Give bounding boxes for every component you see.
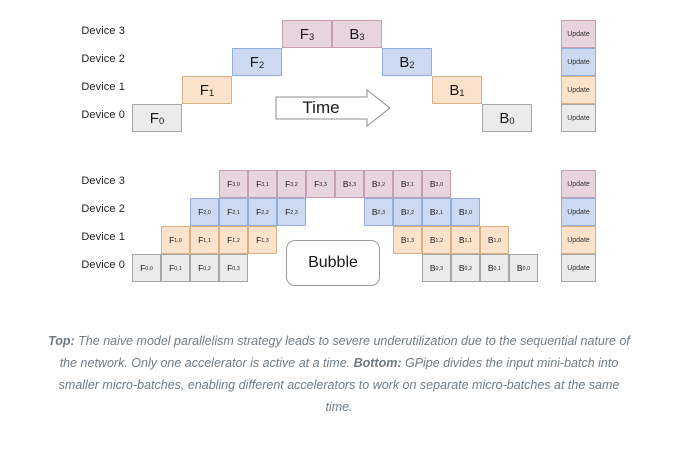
- caption-lead-top: Top:: [48, 334, 75, 348]
- schedule-cell-f-2-2: F2,2: [248, 198, 277, 226]
- schedule-cell-b-3-3: B3,3: [335, 170, 364, 198]
- bubble-box: Bubble: [286, 240, 380, 286]
- schedule-cell-f-0-1: F0,1: [161, 254, 190, 282]
- schedule-cell-b-1-1: B1,1: [451, 226, 480, 254]
- update-cell-device-3: Update: [561, 20, 596, 48]
- bottom-device-label-1: Device 1: [35, 230, 125, 244]
- time-label: Time: [275, 89, 367, 127]
- schedule-cell-b-3: B3: [332, 20, 382, 48]
- schedule-cell-b-0-2: B0,2: [451, 254, 480, 282]
- schedule-cell-b-2-2: B2,2: [393, 198, 422, 226]
- schedule-cell-f-0: F0: [132, 104, 182, 132]
- top-device-label-0: Device 0: [35, 108, 125, 122]
- schedule-cell-b-2-0: B2,0: [451, 198, 480, 226]
- schedule-cell-b-3-1: B3,1: [393, 170, 422, 198]
- schedule-cell-f-2-3: F2,3: [277, 198, 306, 226]
- schedule-cell-f-3-2: F3,2: [277, 170, 306, 198]
- schedule-cell-f-1-3: F1,3: [248, 226, 277, 254]
- update-cell-device-2: Update: [561, 198, 596, 226]
- schedule-cell-f-0-3: F0,3: [219, 254, 248, 282]
- schedule-cell-f-3-0: F3,0: [219, 170, 248, 198]
- schedule-cell-b-2-1: B2,1: [422, 198, 451, 226]
- schedule-cell-b-0-1: B0,1: [480, 254, 509, 282]
- schedule-cell-f-2: F2: [232, 48, 282, 76]
- top-device-label-3: Device 3: [35, 24, 125, 38]
- top-device-label-1: Device 1: [35, 80, 125, 94]
- schedule-cell-f-1: F1: [182, 76, 232, 104]
- top-device-label-2: Device 2: [35, 52, 125, 66]
- schedule-cell-b-0-0: B0,0: [509, 254, 538, 282]
- schedule-cell-f-2-0: F2,0: [190, 198, 219, 226]
- schedule-cell-b-3-0: B3,0: [422, 170, 451, 198]
- schedule-cell-f-0-2: F0,2: [190, 254, 219, 282]
- schedule-cell-b-1: B1: [432, 76, 482, 104]
- schedule-cell-b-2: B2: [382, 48, 432, 76]
- caption-lead-bottom: Bottom:: [354, 356, 402, 370]
- update-cell-device-2: Update: [561, 48, 596, 76]
- schedule-cell-b-3-2: B3,2: [364, 170, 393, 198]
- time-arrow: Time: [275, 89, 391, 127]
- update-cell-device-1: Update: [561, 76, 596, 104]
- schedule-cell-b-1-2: B1,2: [422, 226, 451, 254]
- bottom-device-label-3: Device 3: [35, 174, 125, 188]
- update-cell-device-3: Update: [561, 170, 596, 198]
- schedule-cell-f-1-0: F1,0: [161, 226, 190, 254]
- schedule-cell-f-3-1: F3,1: [248, 170, 277, 198]
- figure-caption: Top: The naive model parallelism strateg…: [44, 330, 634, 418]
- schedule-cell-b-1-0: B1,0: [480, 226, 509, 254]
- bottom-device-label-2: Device 2: [35, 202, 125, 216]
- schedule-cell-b-2-3: B2,3: [364, 198, 393, 226]
- gpipe-pipeline-figure: Device 3 Device 2 Device 1 Device 0 F0F1…: [0, 0, 679, 451]
- schedule-cell-b-1-3: B1,3: [393, 226, 422, 254]
- schedule-cell-f-1-1: F1,1: [190, 226, 219, 254]
- bottom-device-label-0: Device 0: [35, 258, 125, 272]
- update-cell-device-0: Update: [561, 104, 596, 132]
- schedule-cell-f-3: F3: [282, 20, 332, 48]
- update-cell-device-0: Update: [561, 254, 596, 282]
- update-cell-device-1: Update: [561, 226, 596, 254]
- schedule-cell-f-3-3: F3,3: [306, 170, 335, 198]
- bubble-label: Bubble: [308, 254, 358, 272]
- schedule-cell-f-2-1: F2,1: [219, 198, 248, 226]
- schedule-cell-b-0: B0: [482, 104, 532, 132]
- schedule-cell-b-0-3: B0,3: [422, 254, 451, 282]
- schedule-cell-f-1-2: F1,2: [219, 226, 248, 254]
- schedule-cell-f-0-0: F0,0: [132, 254, 161, 282]
